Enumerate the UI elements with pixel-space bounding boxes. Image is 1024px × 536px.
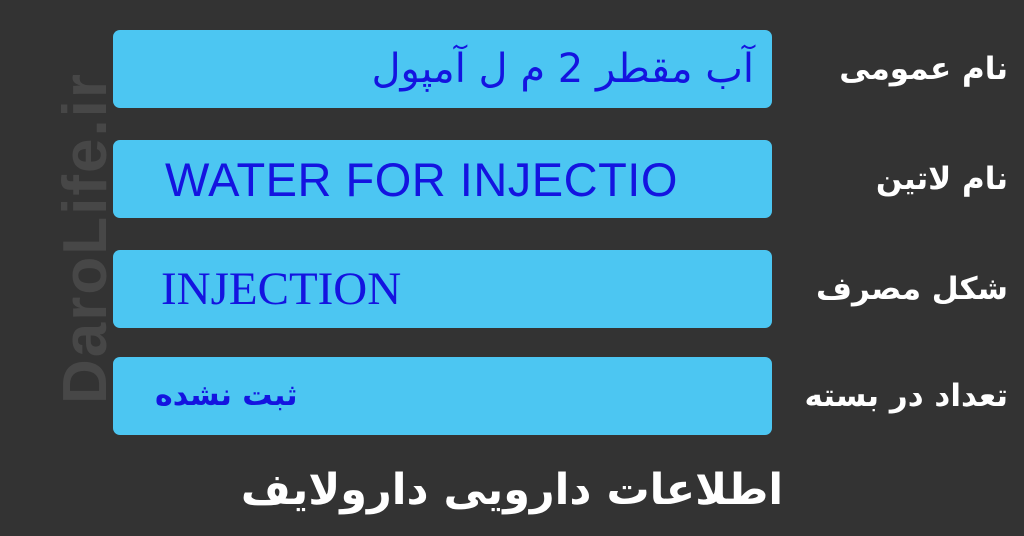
latin-name-value-box[interactable]: WATER FOR INJECTIO — [113, 140, 772, 218]
generic-name-value: آب مقطر 2 م ل آمپول — [113, 49, 772, 89]
package-count-label: تعداد در بسته — [778, 357, 1008, 435]
generic-name-label: نام عمومی — [778, 30, 1008, 108]
dosage-form-value: INJECTION — [113, 266, 772, 313]
dosage-form-label: شکل مصرف — [778, 250, 1008, 328]
package-count-value: ثبت نشده — [113, 381, 772, 411]
table-row: WATER FOR INJECTIO نام لاتین — [0, 140, 1024, 218]
footer-branding: اطلاعات دارویی دارولایف — [0, 455, 1024, 525]
table-row: ثبت نشده تعداد در بسته — [0, 357, 1024, 435]
drug-info-card: DaroLife.ir آب مقطر 2 م ل آمپول نام عموم… — [0, 0, 1024, 536]
table-row: آب مقطر 2 م ل آمپول نام عمومی — [0, 30, 1024, 108]
latin-name-value: WATER FOR INJECTIO — [113, 156, 772, 203]
generic-name-value-box[interactable]: آب مقطر 2 م ل آمپول — [113, 30, 772, 108]
package-count-value-box[interactable]: ثبت نشده — [113, 357, 772, 435]
latin-name-label: نام لاتین — [778, 140, 1008, 218]
table-row: INJECTION شکل مصرف — [0, 250, 1024, 328]
dosage-form-value-box[interactable]: INJECTION — [113, 250, 772, 328]
